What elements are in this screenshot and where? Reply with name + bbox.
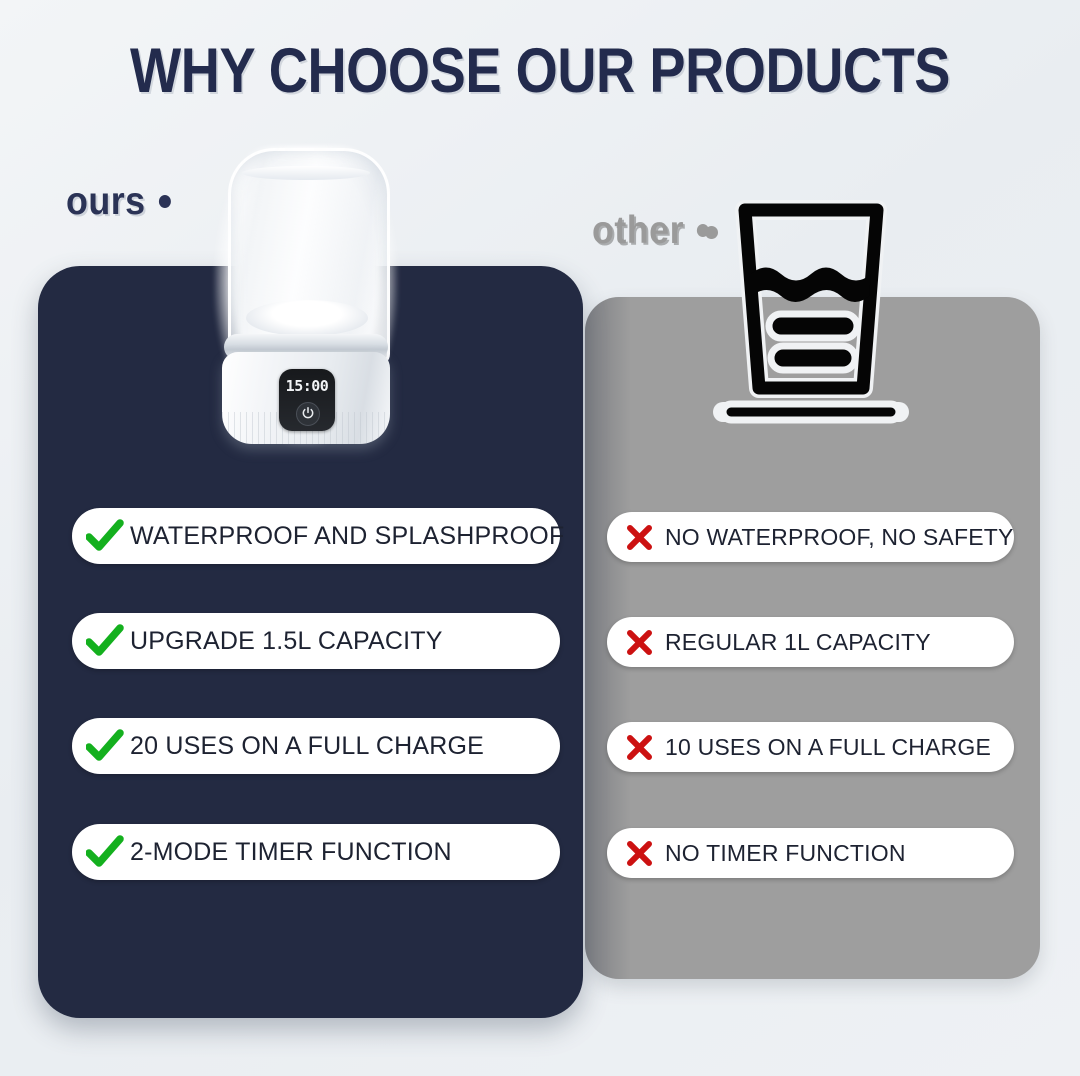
feature-pill-other[interactable]: REGULAR 1L CAPACITY [607,617,1014,667]
red-cross-icon [626,629,653,656]
product-image-other [703,196,919,428]
feature-pill-label: NO WATERPROOF, NO SAFETY [665,524,1014,551]
column-label-ours: ours [66,180,170,224]
page-title: WHY CHOOSE OUR PRODUCTS [76,40,1005,103]
feature-pill-other[interactable]: NO WATERPROOF, NO SAFETY [607,512,1014,562]
water-container-outline-icon [703,196,919,428]
product-diffuser [246,300,368,336]
product-display-screen: 15:00 [279,369,335,431]
column-label-ours-text: ours [66,180,146,223]
green-check-icon [86,624,124,658]
product-tank-rim [242,166,370,180]
power-button-icon[interactable] [296,402,320,426]
feature-pill-label: 2-MODE TIMER FUNCTION [130,838,452,867]
feature-pill-label: 20 USES ON A FULL CHARGE [130,732,484,761]
feature-pill-ours[interactable]: UPGRADE 1.5L CAPACITY [72,613,560,669]
feature-pill-label: REGULAR 1L CAPACITY [665,629,931,656]
column-label-other: other [592,209,709,253]
green-check-icon [86,835,124,869]
green-check-icon [86,729,124,763]
feature-pill-ours[interactable]: WATERPROOF AND SPLASHPROOF [72,508,560,564]
product-image-ours: 15:00 [208,140,404,450]
red-cross-icon [626,840,653,867]
green-check-icon [86,519,124,553]
red-cross-icon [626,524,653,551]
feature-pill-label: UPGRADE 1.5L CAPACITY [130,627,443,656]
product-display-time: 15:00 [279,377,335,395]
feature-pill-label: NO TIMER FUNCTION [665,840,906,867]
feature-pill-ours[interactable]: 2-MODE TIMER FUNCTION [72,824,560,880]
bullet-dot-icon [158,195,170,208]
column-label-other-text: other [592,209,684,252]
feature-pill-label: 10 USES ON A FULL CHARGE [665,734,991,761]
feature-pill-other[interactable]: 10 USES ON A FULL CHARGE [607,722,1014,772]
feature-pill-ours[interactable]: 20 USES ON A FULL CHARGE [72,718,560,774]
red-cross-icon [626,734,653,761]
feature-pill-other[interactable]: NO TIMER FUNCTION [607,828,1014,878]
feature-pill-label: WATERPROOF AND SPLASHPROOF [130,522,564,551]
